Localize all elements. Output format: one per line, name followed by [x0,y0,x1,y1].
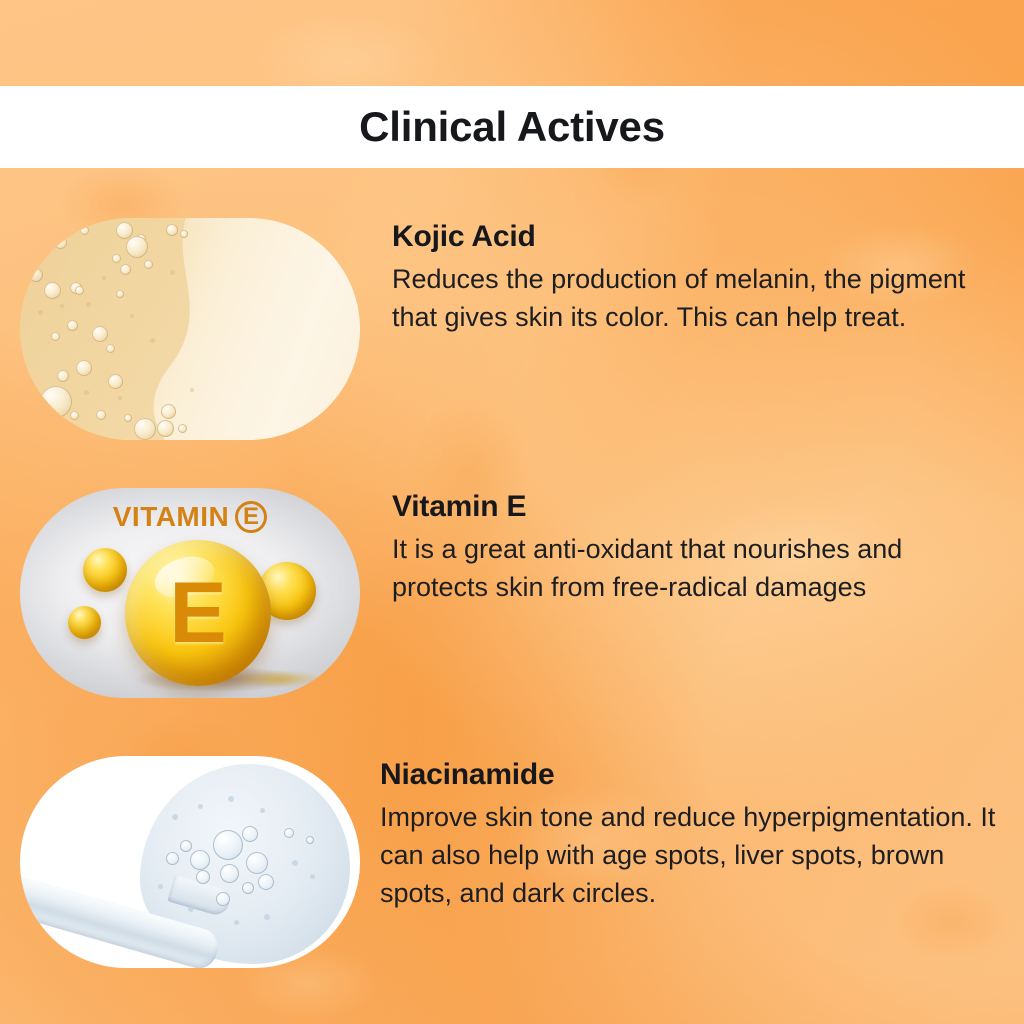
niacinamide-description: Improve skin tone and reduce hyperpigmen… [380,798,1000,913]
bubble-icon [75,286,84,295]
bubble-icon [213,830,243,860]
bubble-icon [112,254,121,263]
bubble-icon [124,414,132,422]
bubble-icon [284,828,294,838]
bubble-icon [198,804,203,809]
bubble-icon [118,396,122,400]
bubble-icon [86,302,91,307]
bubble-icon [220,864,239,883]
bubble-icon [216,892,230,906]
bubble-icon [264,914,270,920]
bubble-icon [178,424,187,433]
vitamin-e-label-word: VITAMIN [113,501,230,533]
bubble-icon [166,224,178,236]
vitamin-e-heading: Vitamin E [392,490,992,524]
bubble-icon [92,326,108,342]
bubble-icon [84,390,89,395]
bubble-icon [134,418,156,440]
bubble-icon [116,222,133,239]
vitamin-e-circled-letter: E [235,501,267,533]
bubble-icon [166,852,179,865]
bubble-icon [106,344,115,353]
bubble-icon [116,290,124,298]
bubble-icon [126,236,148,258]
ingredient-card-niacinamide: Niacinamide Improve skin tone and reduce… [20,756,1004,968]
bubble-icon [242,882,254,894]
bubble-icon [150,338,155,343]
title-banner: Clinical Actives [0,86,1024,168]
bubble-icon [144,260,153,269]
niacinamide-heading: Niacinamide [380,758,1000,792]
bubble-icon [180,230,188,238]
kojic-acid-image [20,218,360,440]
bubble-icon [172,814,178,820]
bubble-icon [157,420,174,437]
bubble-icon [108,374,123,389]
bubble-icon [170,270,175,275]
bubble-icon [260,808,265,813]
bubble-icon [190,850,210,870]
bubble-icon [158,884,163,889]
bubble-icon [29,268,43,282]
bubble-icon [306,836,314,844]
bubble-icon [188,906,194,912]
kojic-acid-text-column: Kojic Acid Reduces the production of mel… [392,218,992,336]
vitamin-e-sphere: E [125,540,271,686]
bubble-icon [57,370,69,382]
ingredient-card-vitamin-e: VITAMIN E E Vitamin E It is a great anti… [20,488,1004,698]
bubble-icon [80,226,89,235]
page-title: Clinical Actives [359,103,665,151]
bubble-icon [70,411,79,420]
bubble-icon [242,826,258,842]
vitamin-e-description: It is a great anti-oxidant that nourishe… [392,530,992,607]
bubble-icon [96,410,106,420]
bubble-icon [38,310,43,315]
bubble-icon [130,314,134,318]
bubble-icon [190,388,194,392]
vitamin-e-image: VITAMIN E E [20,488,360,698]
bubble-icon [102,276,106,280]
bubble-icon [51,332,60,341]
bubble-icon [120,264,131,275]
bubble-icon [54,236,67,249]
vitamin-e-text-column: Vitamin E It is a great anti-oxidant tha… [392,488,992,606]
kojic-acid-description: Reduces the production of melanin, the p… [392,260,992,337]
bubble-icon [234,920,239,925]
vitamin-e-droplet-icon [68,606,101,639]
vitamin-e-droplet-icon [83,548,127,592]
bubble-icon [246,852,268,874]
vitamin-e-label: VITAMIN E [20,501,360,533]
bubble-icon [76,360,92,376]
bubble-icon [67,320,78,331]
bubble-icon [44,282,61,299]
bubble-icon [292,860,298,866]
bubble-icon [161,404,176,419]
bubble-icon [228,796,234,802]
bubble-icon [40,386,72,418]
ingredient-card-kojic-acid: Kojic Acid Reduces the production of mel… [20,218,1004,440]
bubble-icon [310,874,315,879]
vitamin-e-sphere-letter: E [125,540,271,686]
bubble-icon [180,840,192,852]
bubble-icon [196,870,210,884]
niacinamide-image [20,756,360,968]
niacinamide-text-column: Niacinamide Improve skin tone and reduce… [380,756,1000,913]
kojic-acid-heading: Kojic Acid [392,220,992,254]
bubble-icon [258,874,274,890]
bubble-icon [60,304,64,308]
